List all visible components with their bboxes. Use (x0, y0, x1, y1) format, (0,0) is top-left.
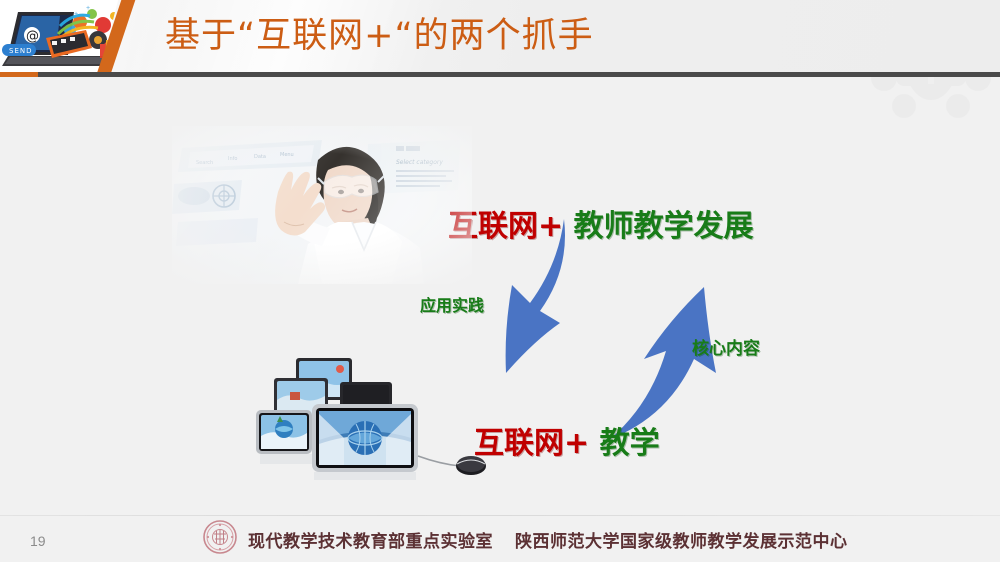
slide-canvas: + + + @ SEND (0, 0, 1000, 562)
arrow-up-right-icon (610, 287, 716, 439)
svg-text:@: @ (26, 29, 39, 44)
headline-bottom-prefix: 互联网+ (474, 426, 589, 461)
footer-credits: 现代教学技术教育部重点实验室陕西师范大学国家级教师教学发展示范中心 (248, 527, 848, 552)
headline-top-suffix: 教师教学发展 (574, 209, 754, 244)
header-divider-accent (0, 72, 38, 77)
footer-center-name: 陕西师范大学国家级教师教学发展示范中心 (515, 532, 848, 552)
headline-row-bottom: 互联网+ 教学 (474, 418, 660, 462)
footer-lab-name: 现代教学技术教育部重点实验室 (248, 532, 493, 552)
annotation-practice: 应用实践 (420, 292, 484, 316)
multi-device-screens-photo (252, 352, 492, 482)
svg-text:SEND: SEND (9, 47, 33, 55)
headline-bottom-suffix: 教学 (600, 426, 660, 461)
svg-text:+: + (74, 11, 78, 18)
svg-text:+: + (86, 5, 90, 12)
footer-divider (0, 515, 1000, 516)
slide-header: + + + @ SEND (0, 0, 1000, 78)
woman-hologram-photo: Search Info Data Menu Select category (172, 126, 472, 284)
photo-fade-mask (172, 126, 472, 284)
arrow-group (460, 215, 750, 445)
headline-row-top: 互联网+ 教师教学发展 (448, 201, 754, 245)
page-number: 19 (30, 533, 46, 549)
page-title: 基于“互联网+“的两个抓手 (165, 13, 594, 59)
annotation-core: 核心内容 (692, 334, 760, 359)
university-seal-icon (203, 520, 237, 554)
header-divider (0, 72, 1000, 77)
